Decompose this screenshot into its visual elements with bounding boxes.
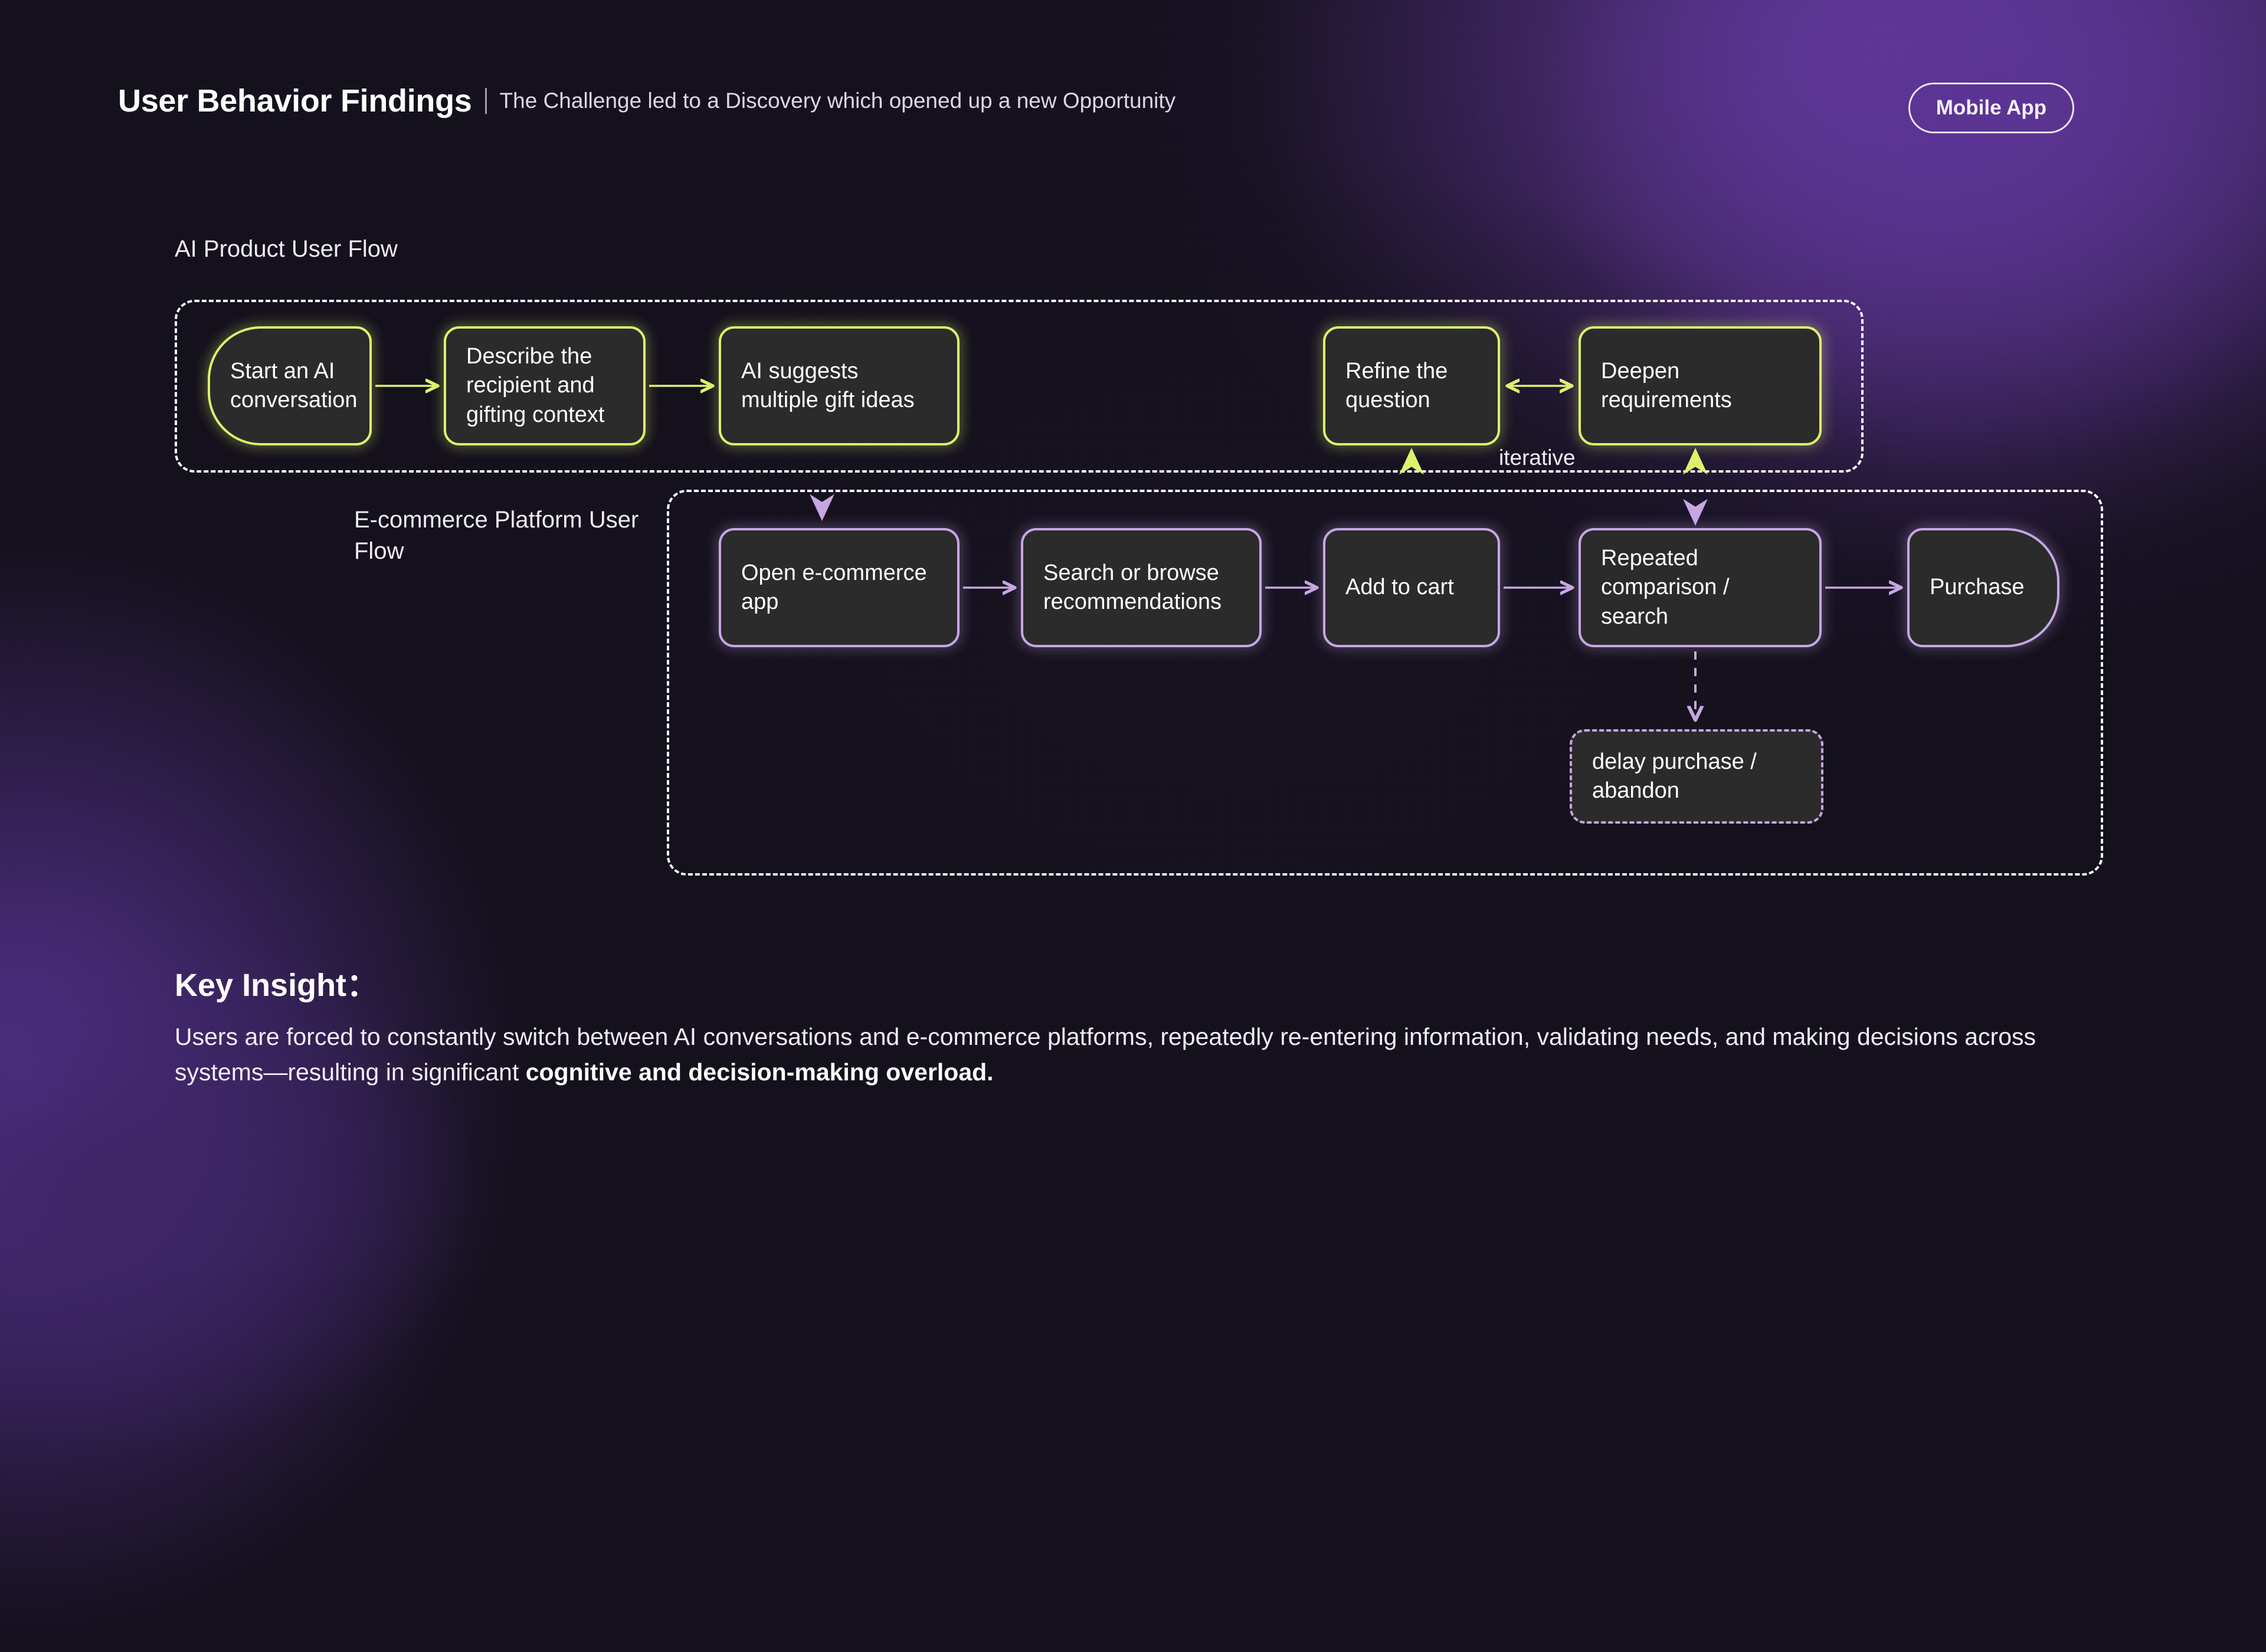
- iterative-loop-label: iterative: [1499, 445, 1576, 470]
- node-label: Start an AI conversation: [230, 357, 357, 415]
- node-label: Search or browse recommendations: [1043, 559, 1239, 617]
- key-insight-body-text: Users are forced to constantly switch be…: [175, 1023, 2036, 1086]
- node-label: AI suggests multiple gift ideas: [741, 357, 937, 415]
- key-insight-title: Key Insight：: [175, 959, 2063, 1005]
- node-label: Purchase: [1930, 573, 2025, 602]
- node-search-or-browse[interactable]: Search or browse recommendations: [1021, 528, 1262, 647]
- node-label: Describe the recipient and gifting conte…: [466, 342, 623, 430]
- key-insight-body: Users are forced to constantly switch be…: [175, 1020, 2039, 1090]
- node-add-to-cart[interactable]: Add to cart: [1323, 528, 1500, 647]
- node-describe-recipient[interactable]: Describe the recipient and gifting conte…: [444, 326, 646, 445]
- node-label: Deepen requirements: [1601, 357, 1799, 415]
- slide-canvas: User Behavior Findings The Challenge led…: [0, 0, 2266, 1274]
- node-refine-the-question[interactable]: Refine the question: [1323, 326, 1500, 445]
- node-purchase[interactable]: Purchase: [1907, 528, 2059, 647]
- node-label: Add to cart: [1345, 573, 1454, 602]
- node-ai-suggests-gift-ideas[interactable]: AI suggests multiple gift ideas: [719, 326, 960, 445]
- node-label: Open e-commerce app: [741, 559, 937, 617]
- node-label: Repeated comparison / search: [1601, 544, 1799, 631]
- node-label: Refine the question: [1345, 357, 1478, 415]
- node-delay-purchase-abandon[interactable]: delay purchase / abandon: [1570, 729, 1823, 824]
- key-insight-section: Key Insight： Users are forced to constan…: [175, 959, 2063, 1090]
- key-insight-emphasis: cognitive and decision-making overload.: [526, 1058, 994, 1086]
- node-deepen-requirements[interactable]: Deepen requirements: [1579, 326, 1822, 445]
- node-label: delay purchase / abandon: [1592, 748, 1801, 806]
- node-open-ecommerce-app[interactable]: Open e-commerce app: [719, 528, 960, 647]
- node-repeated-comparison-search[interactable]: Repeated comparison / search: [1579, 528, 1822, 647]
- node-start-ai-conversation[interactable]: Start an AI conversation: [208, 326, 372, 445]
